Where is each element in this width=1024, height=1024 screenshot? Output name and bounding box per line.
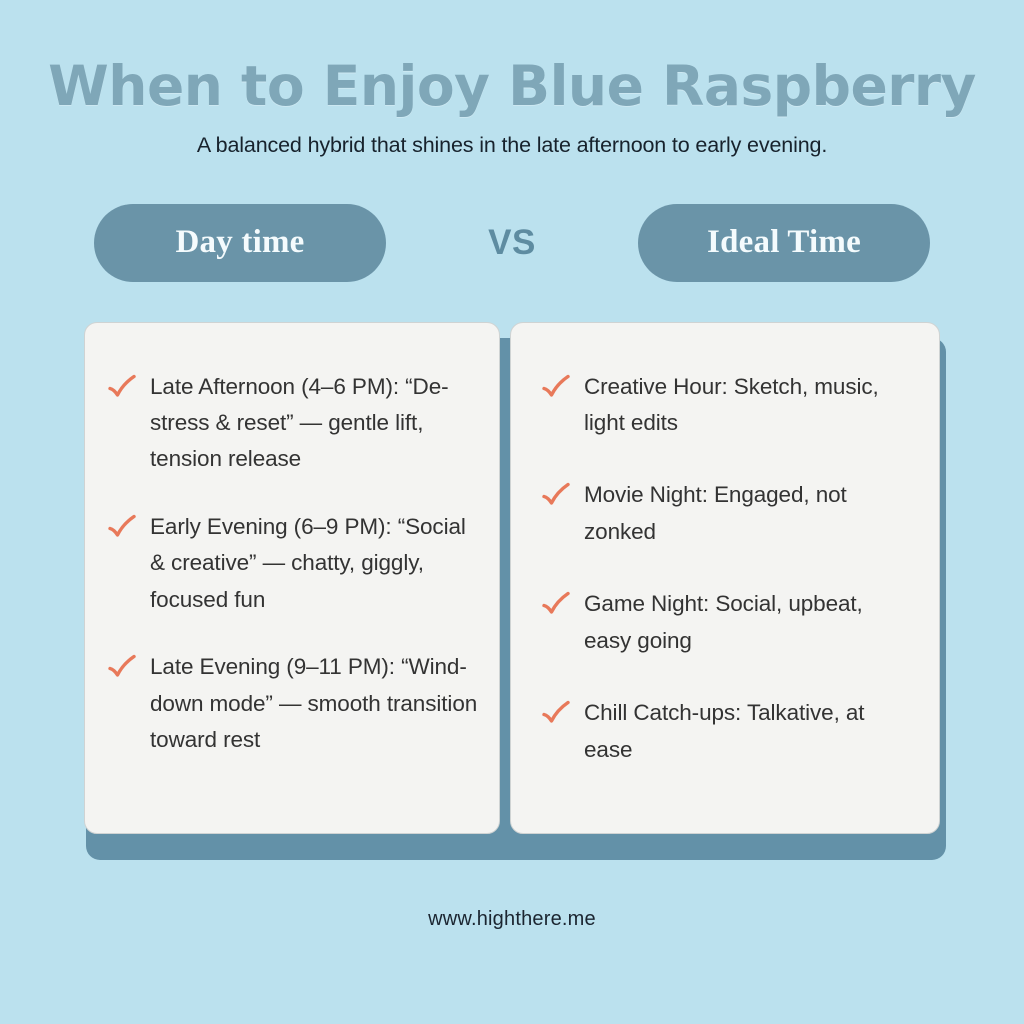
cards-container: Late Afternoon (4–6 PM): “De-stress & re… bbox=[84, 322, 940, 834]
list-item-text: Creative Hour: Sketch, music, light edit… bbox=[584, 369, 884, 442]
list-item: Movie Night: Engaged, not zonked bbox=[541, 477, 925, 550]
pill-ideal-time-label: Ideal Time bbox=[707, 224, 861, 261]
list-item: Chill Catch-ups: Talkative, at ease bbox=[541, 695, 925, 768]
vs-label: VS bbox=[386, 223, 638, 263]
pill-ideal-time[interactable]: Ideal Time bbox=[638, 204, 930, 282]
page-title: When to Enjoy Blue Raspberry bbox=[0, 58, 1024, 116]
ideal-time-card: Creative Hour: Sketch, music, light edit… bbox=[510, 322, 940, 834]
pill-day-time[interactable]: Day time bbox=[94, 204, 386, 282]
pill-day-time-label: Day time bbox=[176, 224, 305, 261]
check-icon bbox=[541, 481, 571, 511]
check-icon bbox=[541, 590, 571, 620]
list-item-text: Early Evening (6–9 PM): “Social & creati… bbox=[150, 509, 480, 618]
check-icon bbox=[107, 373, 137, 403]
list-item: Creative Hour: Sketch, music, light edit… bbox=[541, 369, 925, 442]
day-time-list: Late Afternoon (4–6 PM): “De-stress & re… bbox=[107, 369, 491, 759]
list-item-text: Late Afternoon (4–6 PM): “De-stress & re… bbox=[150, 369, 480, 478]
list-item-text: Game Night: Social, upbeat, easy going bbox=[584, 586, 884, 659]
day-time-card: Late Afternoon (4–6 PM): “De-stress & re… bbox=[84, 322, 500, 834]
list-item-text: Movie Night: Engaged, not zonked bbox=[584, 477, 884, 550]
check-icon bbox=[107, 653, 137, 683]
check-icon bbox=[541, 699, 571, 729]
page-subtitle: A balanced hybrid that shines in the lat… bbox=[0, 133, 1024, 159]
list-item-text: Chill Catch-ups: Talkative, at ease bbox=[584, 695, 884, 768]
list-item: Game Night: Social, upbeat, easy going bbox=[541, 586, 925, 659]
list-item: Late Afternoon (4–6 PM): “De-stress & re… bbox=[107, 369, 491, 478]
header: When to Enjoy Blue Raspberry A balanced … bbox=[0, 0, 1024, 159]
comparison-header-row: Day time VS Ideal Time bbox=[82, 204, 942, 282]
infographic-page: When to Enjoy Blue Raspberry A balanced … bbox=[0, 0, 1024, 1024]
list-item-text: Late Evening (9–11 PM): “Wind-down mode”… bbox=[150, 649, 480, 758]
list-item: Early Evening (6–9 PM): “Social & creati… bbox=[107, 509, 491, 618]
check-icon bbox=[541, 373, 571, 403]
list-item: Late Evening (9–11 PM): “Wind-down mode”… bbox=[107, 649, 491, 758]
footer-url[interactable]: www.highthere.me bbox=[0, 908, 1024, 931]
ideal-time-list: Creative Hour: Sketch, music, light edit… bbox=[541, 369, 925, 769]
check-icon bbox=[107, 513, 137, 543]
